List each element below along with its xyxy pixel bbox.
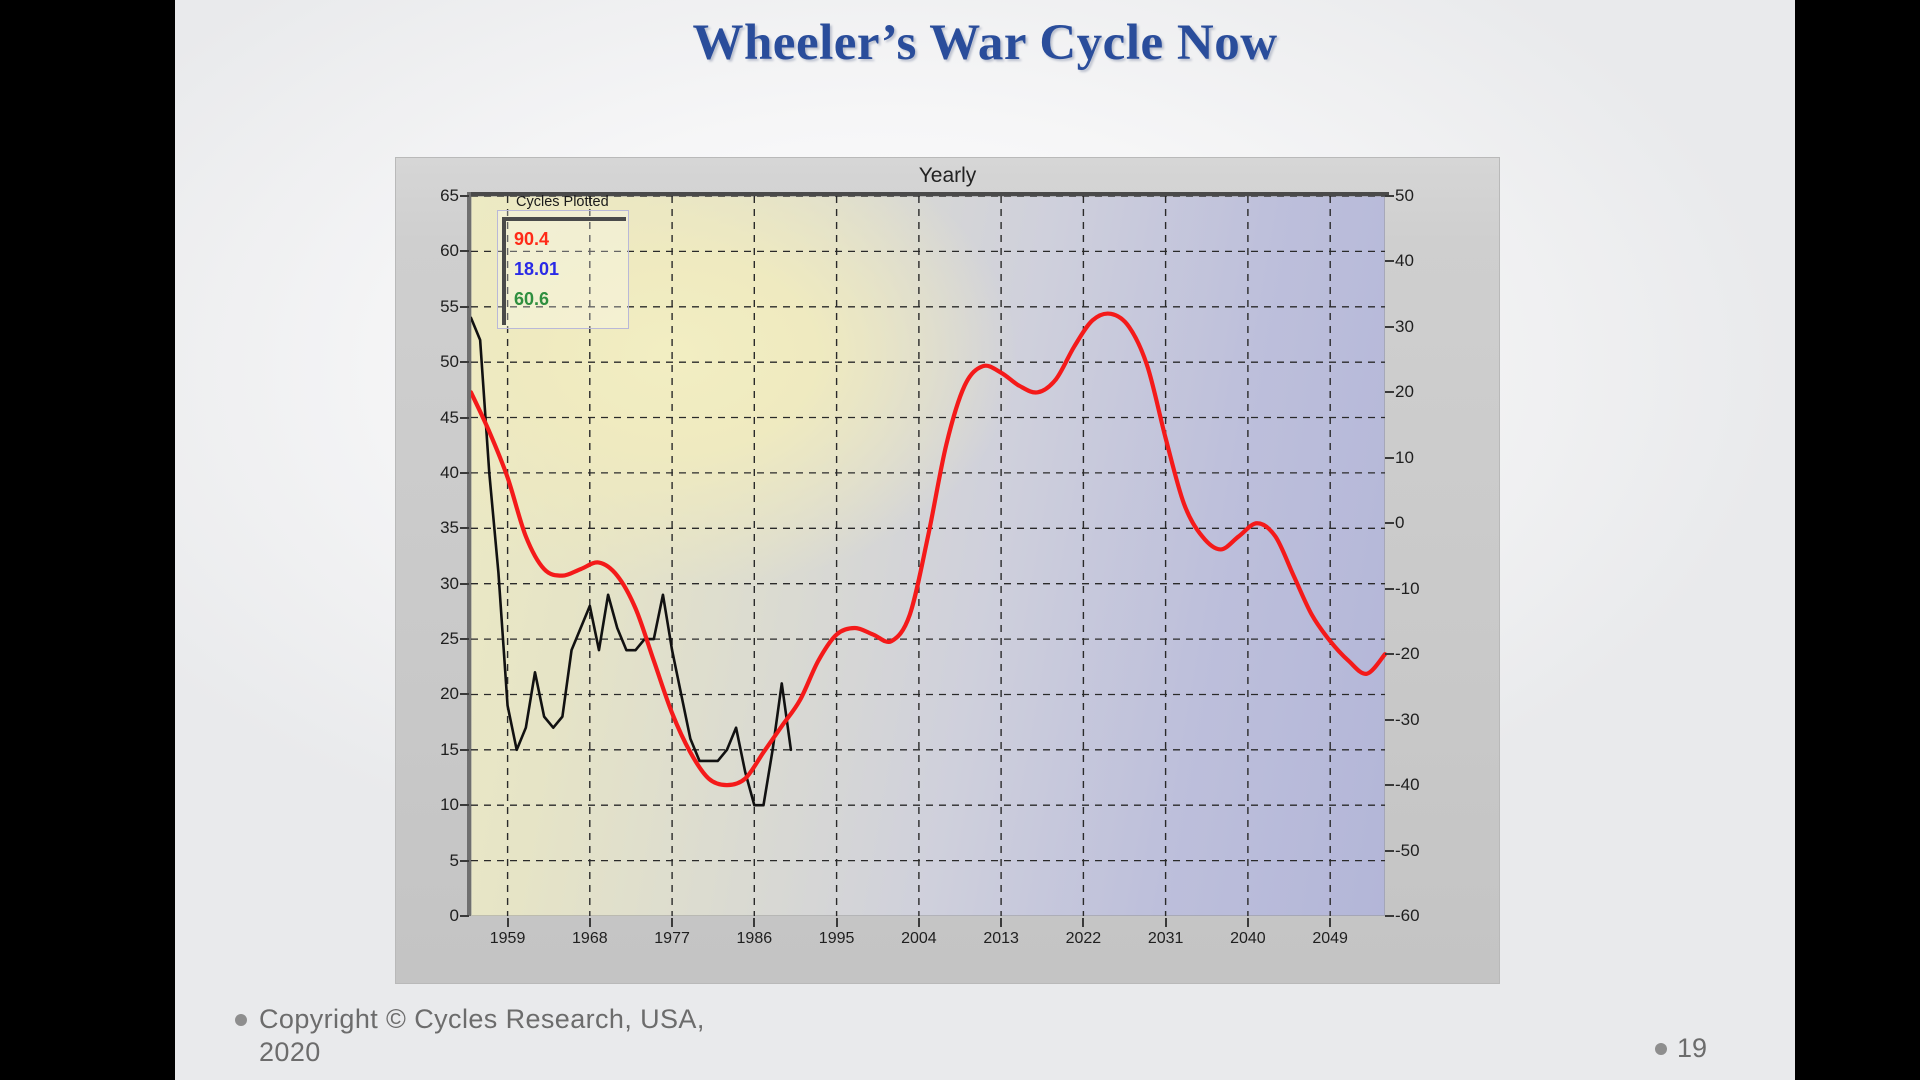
y-right-tick [1385,588,1394,590]
x-tick-label: 2049 [1312,930,1348,948]
legend-title: Cycles Plotted [516,194,609,210]
x-tick-label: 2022 [1066,930,1102,948]
x-tick-label: 1959 [490,930,526,948]
y-left-tick [460,472,469,474]
y-right-tick-label: 50 [1395,186,1414,206]
letterbox-bar-left [0,0,175,1080]
legend-item-2: 60.6 [514,289,549,310]
y-left-tick-label: 50 [440,352,459,372]
y-right-tick-label: -10 [1395,579,1420,599]
y-left-tick [460,417,469,419]
x-tick [918,918,920,927]
y-right-tick [1385,195,1394,197]
y-left-tick-label: 55 [440,297,459,317]
y-right-tick [1385,850,1394,852]
legend-rule-horizontal [502,217,626,221]
y-right-tick [1385,391,1394,393]
series-1 [471,314,1385,786]
x-tick [507,918,509,927]
y-right-tick-label: 10 [1395,448,1414,468]
y-left-tick-label: 25 [440,629,459,649]
y-right-tick-label: 20 [1395,382,1414,402]
x-axis: 1959196819771986199520042013202220312040… [471,930,1385,970]
y-left-tick [460,693,469,695]
y-left-tick-label: 65 [440,186,459,206]
footer-text: Copyright © Cycles Research, USA, [259,1004,705,1034]
chart-panel: Yearly Cycles Plotted 90.4 18.01 60.6 [396,158,1499,983]
y-left-tick [460,804,469,806]
x-tick-label: 2004 [901,930,937,948]
y-right-tick [1385,653,1394,655]
x-tick-label: 2040 [1230,930,1266,948]
x-tick [1000,918,1002,927]
footer-copyright: Copyright © Cycles Research, USA, 2020 [235,1004,1035,1068]
y-left-tick [460,250,469,252]
bullet-icon [1655,1043,1667,1055]
x-tick [1247,918,1249,927]
y-left-tick-label: 45 [440,408,459,428]
series-0 [471,318,791,805]
y-right-tick [1385,719,1394,721]
y-right-tick-label: -40 [1395,775,1420,795]
y-left-tick-label: 0 [450,906,459,926]
presentation-slide: Wheeler’s War Cycle Now Yearly Cycles Pl… [175,0,1795,1080]
x-tick-label: 1986 [737,930,773,948]
legend-item-0: 90.4 [514,229,549,250]
y-right-tick-label: 0 [1395,513,1404,533]
y-right-tick [1385,260,1394,262]
x-tick [1165,918,1167,927]
y-right-tick [1385,522,1394,524]
chart-title: Yearly [396,164,1499,188]
y-left-tick-label: 60 [440,241,459,261]
y-left-tick-label: 30 [440,574,459,594]
y-left-tick-label: 10 [440,795,459,815]
x-tick-label: 1977 [654,930,690,948]
y-right-tick-label: 40 [1395,251,1414,271]
x-tick [1082,918,1084,927]
y-left-tick [460,527,469,529]
y-right-tick [1385,915,1394,917]
y-left-tick [460,860,469,862]
x-tick-label: 2031 [1148,930,1184,948]
legend-item-1: 18.01 [514,259,559,280]
x-tick [753,918,755,927]
y-left-tick [460,195,469,197]
y-right-tick-label: -30 [1395,710,1420,730]
legend-box: Cycles Plotted 90.4 18.01 60.6 [497,210,629,329]
page-number: 19 [1655,1033,1707,1064]
y-axis-right: 50403020100-10-20-30-40-50-60 [1395,196,1465,916]
y-left-tick-label: 5 [450,851,459,871]
y-right-tick [1385,326,1394,328]
x-tick-label: 1968 [572,930,608,948]
page-title: Wheeler’s War Cycle Now [175,14,1795,72]
y-right-tick-label: -20 [1395,644,1420,664]
footer-year: 2020 [259,1037,1035,1068]
x-tick [589,918,591,927]
y-left-tick-label: 15 [440,740,459,760]
y-left-tick [460,915,469,917]
x-tick [1329,918,1331,927]
y-left-tick [460,361,469,363]
plot-wrapper: Cycles Plotted 90.4 18.01 60.6 051015202… [471,196,1385,916]
plot-frame-left [467,192,471,916]
y-left-tick [460,749,469,751]
y-left-tick-label: 20 [440,684,459,704]
y-left-tick [460,583,469,585]
bullet-icon [235,1014,247,1026]
plot-area: Cycles Plotted 90.4 18.01 60.6 [471,196,1385,916]
legend-rule-vertical [502,217,506,325]
page-number-value: 19 [1677,1033,1707,1063]
letterbox-bar-right [1795,0,1920,1080]
y-axis-left: 05101520253035404550556065 [403,196,459,916]
y-right-tick-label: 30 [1395,317,1414,337]
y-left-tick-label: 40 [440,463,459,483]
x-tick [836,918,838,927]
y-left-tick [460,638,469,640]
slide-stage: Wheeler’s War Cycle Now Yearly Cycles Pl… [0,0,1920,1080]
y-right-tick [1385,457,1394,459]
y-left-tick [460,306,469,308]
x-tick-label: 2013 [983,930,1019,948]
y-left-tick-label: 35 [440,518,459,538]
y-right-tick-label: -50 [1395,841,1420,861]
y-right-tick [1385,784,1394,786]
x-tick [671,918,673,927]
x-tick-label: 1995 [819,930,855,948]
y-right-tick-label: -60 [1395,906,1420,926]
